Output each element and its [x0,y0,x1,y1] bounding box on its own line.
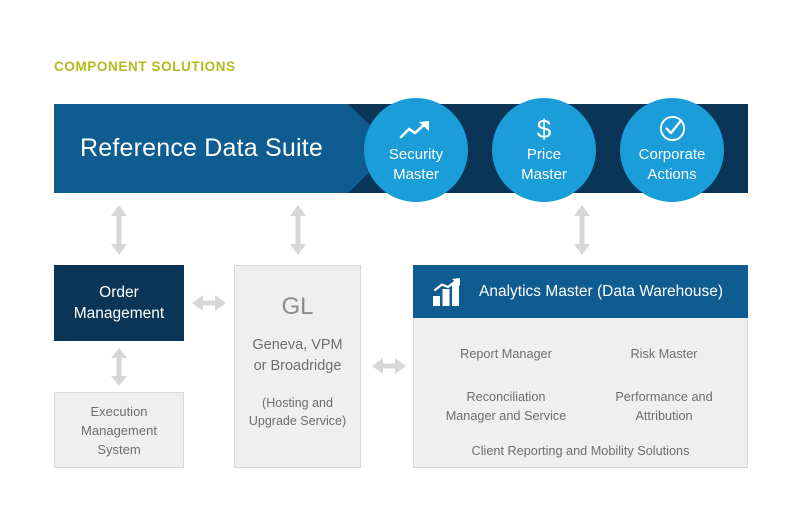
trending-up-icon [399,116,433,142]
arrow-order-management-to-gl [192,294,226,312]
circle-corporate-actions-label: Corporate Actions [639,145,706,185]
section-title: COMPONENT SOLUTIONS [54,59,236,74]
box-execution-management-system-label: Execution Management System [81,402,157,459]
box-gl[interactable]: GL Geneva, VPM or Broadridge (Hosting an… [234,265,361,468]
diagram-canvas: COMPONENT SOLUTIONS Reference Data Suite… [0,0,800,523]
arrow-order-management-to-banner [110,205,128,255]
bar-chart-growth-icon [433,278,465,306]
analytics-item-reconciliation[interactable]: Reconciliation Manager and Service [426,388,586,426]
box-order-management-label: Order Management [74,282,164,324]
check-circle-icon [659,116,686,142]
arrow-analytics-to-banner [573,205,591,255]
circle-security-master-label: Security Master [389,145,443,185]
box-gl-subtitle: Geneva, VPM or Broadridge [252,335,342,377]
box-order-management[interactable]: Order Management [54,265,184,341]
analytics-master-body: Report Manager Risk Master Reconciliatio… [414,318,747,467]
box-execution-management-system[interactable]: Execution Management System [54,392,184,468]
circle-security-master[interactable]: Security Master [364,98,468,202]
arrow-gl-to-banner [289,205,307,255]
circle-price-master[interactable]: $ Price Master [492,98,596,202]
arrow-gl-to-analytics [372,357,406,375]
box-gl-note: (Hosting and Upgrade Service) [249,394,346,430]
analytics-item-client-reporting[interactable]: Client Reporting and Mobility Solutions [414,442,747,461]
circle-corporate-actions[interactable]: Corporate Actions [620,98,724,202]
analytics-item-report-manager[interactable]: Report Manager [426,345,586,364]
banner-title: Reference Data Suite [80,104,323,193]
dollar-sign-icon: $ [537,116,551,142]
analytics-item-risk-master[interactable]: Risk Master [584,345,744,364]
circle-price-master-label: Price Master [521,145,567,185]
analytics-item-performance-attribution[interactable]: Performance and Attribution [584,388,744,426]
arrow-order-management-to-execution [110,348,128,386]
analytics-master-title: Analytics Master (Data Warehouse) [479,283,723,301]
box-analytics-master[interactable]: Analytics Master (Data Warehouse) Report… [413,265,748,468]
analytics-master-header: Analytics Master (Data Warehouse) [413,265,748,318]
box-gl-title: GL [281,293,313,321]
